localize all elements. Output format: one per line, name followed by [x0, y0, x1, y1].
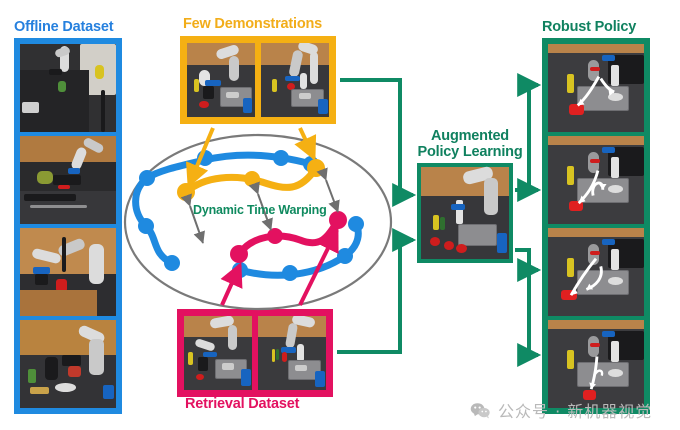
few-demonstrations-title: Few Demonstrations: [183, 16, 322, 32]
arrow-retrieval-right-into-ellipse: [300, 230, 337, 305]
rollout-arrow-3: [548, 228, 644, 316]
arrow-augmented-to-robust-4: [529, 270, 538, 355]
watermark-text: 公众号 · 新机器视觉: [498, 398, 652, 422]
robust-policy-title: Robust Policy: [542, 19, 636, 35]
augmented-policy-learning-title: Augmented Policy Learning: [415, 128, 525, 160]
robust-image-2: [546, 134, 646, 226]
robust-policy-frame: [542, 38, 650, 414]
arrow-fewdemo-to-augmented-path: [340, 80, 400, 195]
offline-trajectory-left: [136, 178, 172, 263]
robust-image-3: [546, 226, 646, 318]
demo-trajectory-nodes: [177, 159, 325, 201]
retrieval-dataset-frame: [177, 309, 333, 397]
trajectory-space-ellipse: [125, 135, 391, 309]
augmented-title-line-1: Augmented: [431, 128, 509, 144]
offline-trajectory-top: [147, 155, 311, 178]
offline-image-4: [18, 318, 118, 410]
wechat-icon: [470, 402, 491, 419]
watermark: 公众号 · 新机器视觉: [470, 398, 652, 422]
few-demonstrations-image-1: [184, 40, 258, 120]
retrieval-image-2: [255, 313, 329, 393]
arrow-retrieval-left-into-ellipse: [222, 265, 240, 305]
dynamic-time-warping-label: Dynamic Time Warping: [193, 203, 327, 217]
rollout-arrow-2: [548, 136, 644, 224]
demo-trajectory-amber: [186, 168, 316, 192]
retrieval-trajectory-pink: [239, 220, 338, 254]
augmented-policy-image: [421, 167, 509, 259]
offline-image-2: [18, 134, 118, 226]
arrow-demo-left-into-ellipse: [189, 128, 213, 185]
few-demonstrations-frame: [180, 36, 336, 124]
dtw-link-right: [326, 180, 338, 212]
diagram-canvas: Offline Dataset: [0, 0, 680, 430]
offline-dataset-title: Offline Dataset: [14, 19, 113, 35]
offline-image-1: [18, 42, 118, 134]
augmented-policy-learning-frame: [417, 163, 513, 263]
offline-dataset-frame: [14, 38, 122, 414]
retrieval-dataset-title: Retrieval Dataset: [185, 396, 299, 412]
arrow-retrieval-to-augmented-path: [337, 240, 400, 352]
arrow-augmented-to-robust-3: [515, 250, 538, 270]
few-demonstrations-image-2: [258, 40, 332, 120]
robust-image-4: [546, 318, 646, 410]
retrieval-trajectory-nodes: [230, 211, 347, 263]
retrieval-image-1: [181, 313, 255, 393]
augmented-title-line-2: Policy Learning: [418, 144, 523, 160]
arrow-demo-right-into-ellipse: [300, 128, 314, 158]
rollout-arrow-4: [548, 320, 644, 408]
offline-image-3: [18, 226, 118, 318]
offline-trajectory-bottom: [240, 224, 358, 275]
robust-image-1: [546, 42, 646, 134]
rollout-arrow-1: [548, 44, 644, 132]
